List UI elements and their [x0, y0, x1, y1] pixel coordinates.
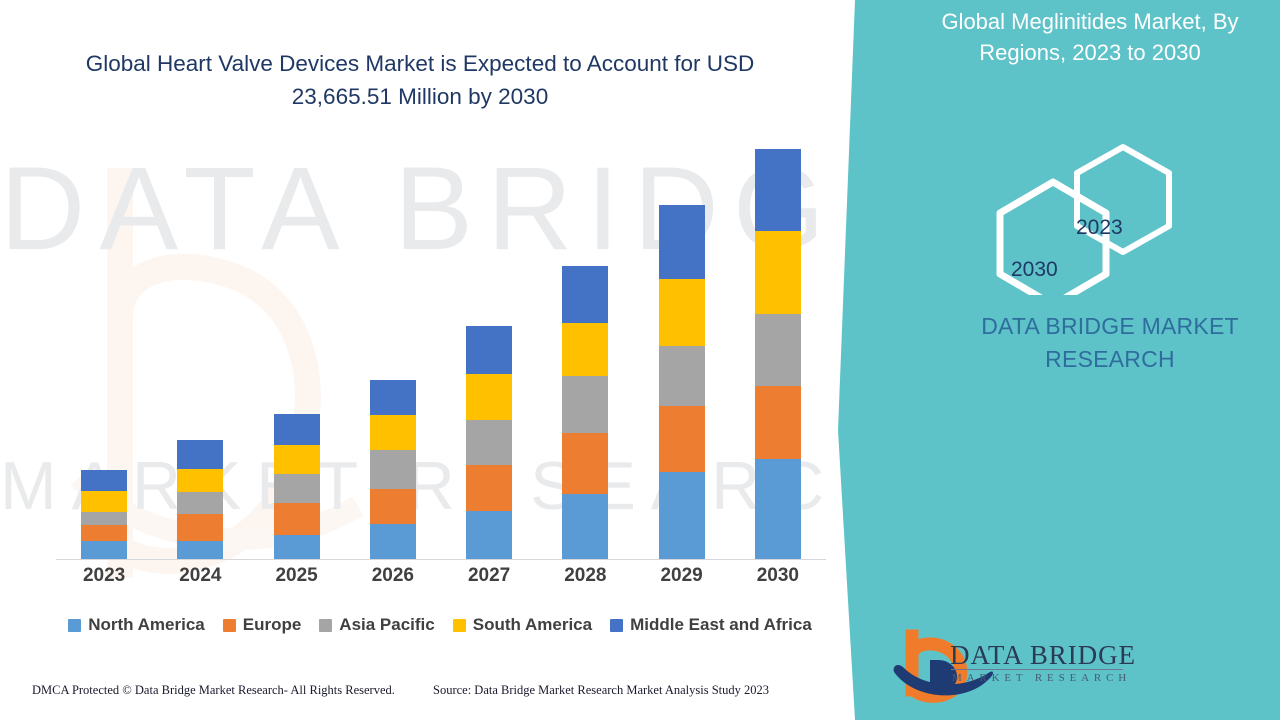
bar-segment[interactable] — [274, 503, 320, 535]
bar-segment[interactable] — [274, 414, 320, 445]
bar-segment[interactable] — [81, 470, 127, 491]
bar-segment[interactable] — [755, 314, 801, 386]
legend-swatch-icon — [319, 619, 332, 632]
bar-slot-2028 — [537, 150, 633, 559]
x-axis-labels: 20232024202520262027202820292030 — [56, 565, 826, 595]
legend-label: Europe — [243, 615, 302, 635]
x-axis-label-2023: 2023 — [56, 565, 152, 595]
legend-swatch-icon — [610, 619, 623, 632]
bar-segment[interactable] — [370, 450, 416, 488]
bar-segment[interactable] — [177, 440, 223, 469]
stacked-bar[interactable] — [755, 149, 801, 559]
bar-segment[interactable] — [274, 535, 320, 559]
bar-segment[interactable] — [81, 525, 127, 541]
bar-segment[interactable] — [659, 205, 705, 279]
legend-label: South America — [473, 615, 592, 635]
bar-segment[interactable] — [562, 376, 608, 433]
bar-segment[interactable] — [370, 380, 416, 415]
x-axis-line — [56, 559, 826, 560]
legend-item[interactable]: Europe — [223, 615, 302, 635]
bar-segment[interactable] — [177, 541, 223, 559]
legend-item[interactable]: Asia Pacific — [319, 615, 434, 635]
legend-item[interactable]: North America — [68, 615, 205, 635]
chart-legend: North AmericaEuropeAsia PacificSouth Ame… — [40, 615, 840, 635]
bar-segment[interactable] — [466, 511, 512, 559]
logo-wordmark: DATA BRIDGE — [950, 640, 1136, 671]
bar-segment[interactable] — [177, 514, 223, 540]
bar-segment[interactable] — [274, 474, 320, 503]
x-axis-label-2025: 2025 — [249, 565, 345, 595]
legend-swatch-icon — [223, 619, 236, 632]
bar-segment[interactable] — [755, 231, 801, 313]
bar-segment[interactable] — [659, 472, 705, 559]
bar-segment[interactable] — [755, 386, 801, 460]
stacked-bar[interactable] — [81, 470, 127, 559]
bar-slot-2024 — [152, 150, 248, 559]
bar-segment[interactable] — [81, 512, 127, 525]
bar-slot-2030 — [730, 150, 826, 559]
x-axis-label-2030: 2030 — [730, 565, 826, 595]
logo-divider — [951, 669, 1123, 670]
stacked-bar[interactable] — [466, 326, 512, 559]
infographic-root: DATA BRIDGE MARKET RESEARCH Global Heart… — [0, 0, 1280, 720]
x-axis-label-2027: 2027 — [441, 565, 537, 595]
hex-badge-2023-label: 2023 — [1076, 216, 1123, 240]
bar-segment[interactable] — [755, 459, 801, 559]
bar-slot-2029 — [634, 150, 730, 559]
bar-segment[interactable] — [370, 489, 416, 524]
footer-copyright: DMCA Protected © Data Bridge Market Rese… — [32, 683, 395, 698]
panel-title: Global Meglinitides Market, By Regions, … — [900, 6, 1280, 68]
bar-segment[interactable] — [755, 149, 801, 231]
legend-swatch-icon — [453, 619, 466, 632]
bar-segment[interactable] — [370, 415, 416, 450]
bar-segment[interactable] — [466, 326, 512, 374]
x-axis-label-2028: 2028 — [537, 565, 633, 595]
legend-swatch-icon — [68, 619, 81, 632]
footer-source: Source: Data Bridge Market Research Mark… — [433, 683, 769, 698]
bar-segment[interactable] — [562, 323, 608, 377]
stacked-bars-container — [56, 150, 826, 559]
bar-segment[interactable] — [562, 433, 608, 494]
bar-segment[interactable] — [659, 406, 705, 472]
stacked-bar[interactable] — [370, 380, 416, 559]
bar-segment[interactable] — [562, 494, 608, 559]
bar-slot-2023 — [56, 150, 152, 559]
legend-label: Asia Pacific — [339, 615, 434, 635]
panel-brand-text: DATA BRIDGE MARKET RESEARCH — [960, 310, 1260, 375]
bar-segment[interactable] — [177, 492, 223, 515]
hex-badge-2030-label: 2030 — [1011, 258, 1058, 282]
bar-segment[interactable] — [81, 541, 127, 559]
page-title: Global Heart Valve Devices Market is Exp… — [40, 48, 800, 113]
legend-label: Middle East and Africa — [630, 615, 812, 635]
stacked-bar[interactable] — [562, 266, 608, 559]
bar-segment[interactable] — [177, 469, 223, 492]
bar-segment[interactable] — [562, 266, 608, 323]
stacked-bar[interactable] — [177, 440, 223, 559]
logo-tagline: MARKET RESEARCH — [952, 672, 1131, 684]
x-axis-label-2024: 2024 — [152, 565, 248, 595]
bar-segment[interactable] — [274, 445, 320, 474]
bar-segment[interactable] — [466, 420, 512, 465]
bar-slot-2026 — [345, 150, 441, 559]
bar-segment[interactable] — [659, 279, 705, 346]
x-axis-label-2029: 2029 — [634, 565, 730, 595]
legend-item[interactable]: South America — [453, 615, 592, 635]
bar-segment[interactable] — [466, 465, 512, 511]
x-axis-label-2026: 2026 — [345, 565, 441, 595]
bar-segment[interactable] — [466, 374, 512, 420]
hex-badges: 2023 2030 — [975, 140, 1210, 295]
chart-plot-area — [56, 150, 826, 560]
bar-slot-2025 — [249, 150, 345, 559]
stacked-bar[interactable] — [659, 205, 705, 559]
legend-item[interactable]: Middle East and Africa — [610, 615, 812, 635]
bar-segment[interactable] — [81, 491, 127, 512]
bar-slot-2027 — [441, 150, 537, 559]
bar-segment[interactable] — [370, 524, 416, 559]
bar-segment[interactable] — [659, 346, 705, 406]
legend-label: North America — [88, 615, 205, 635]
stacked-bar[interactable] — [274, 414, 320, 559]
